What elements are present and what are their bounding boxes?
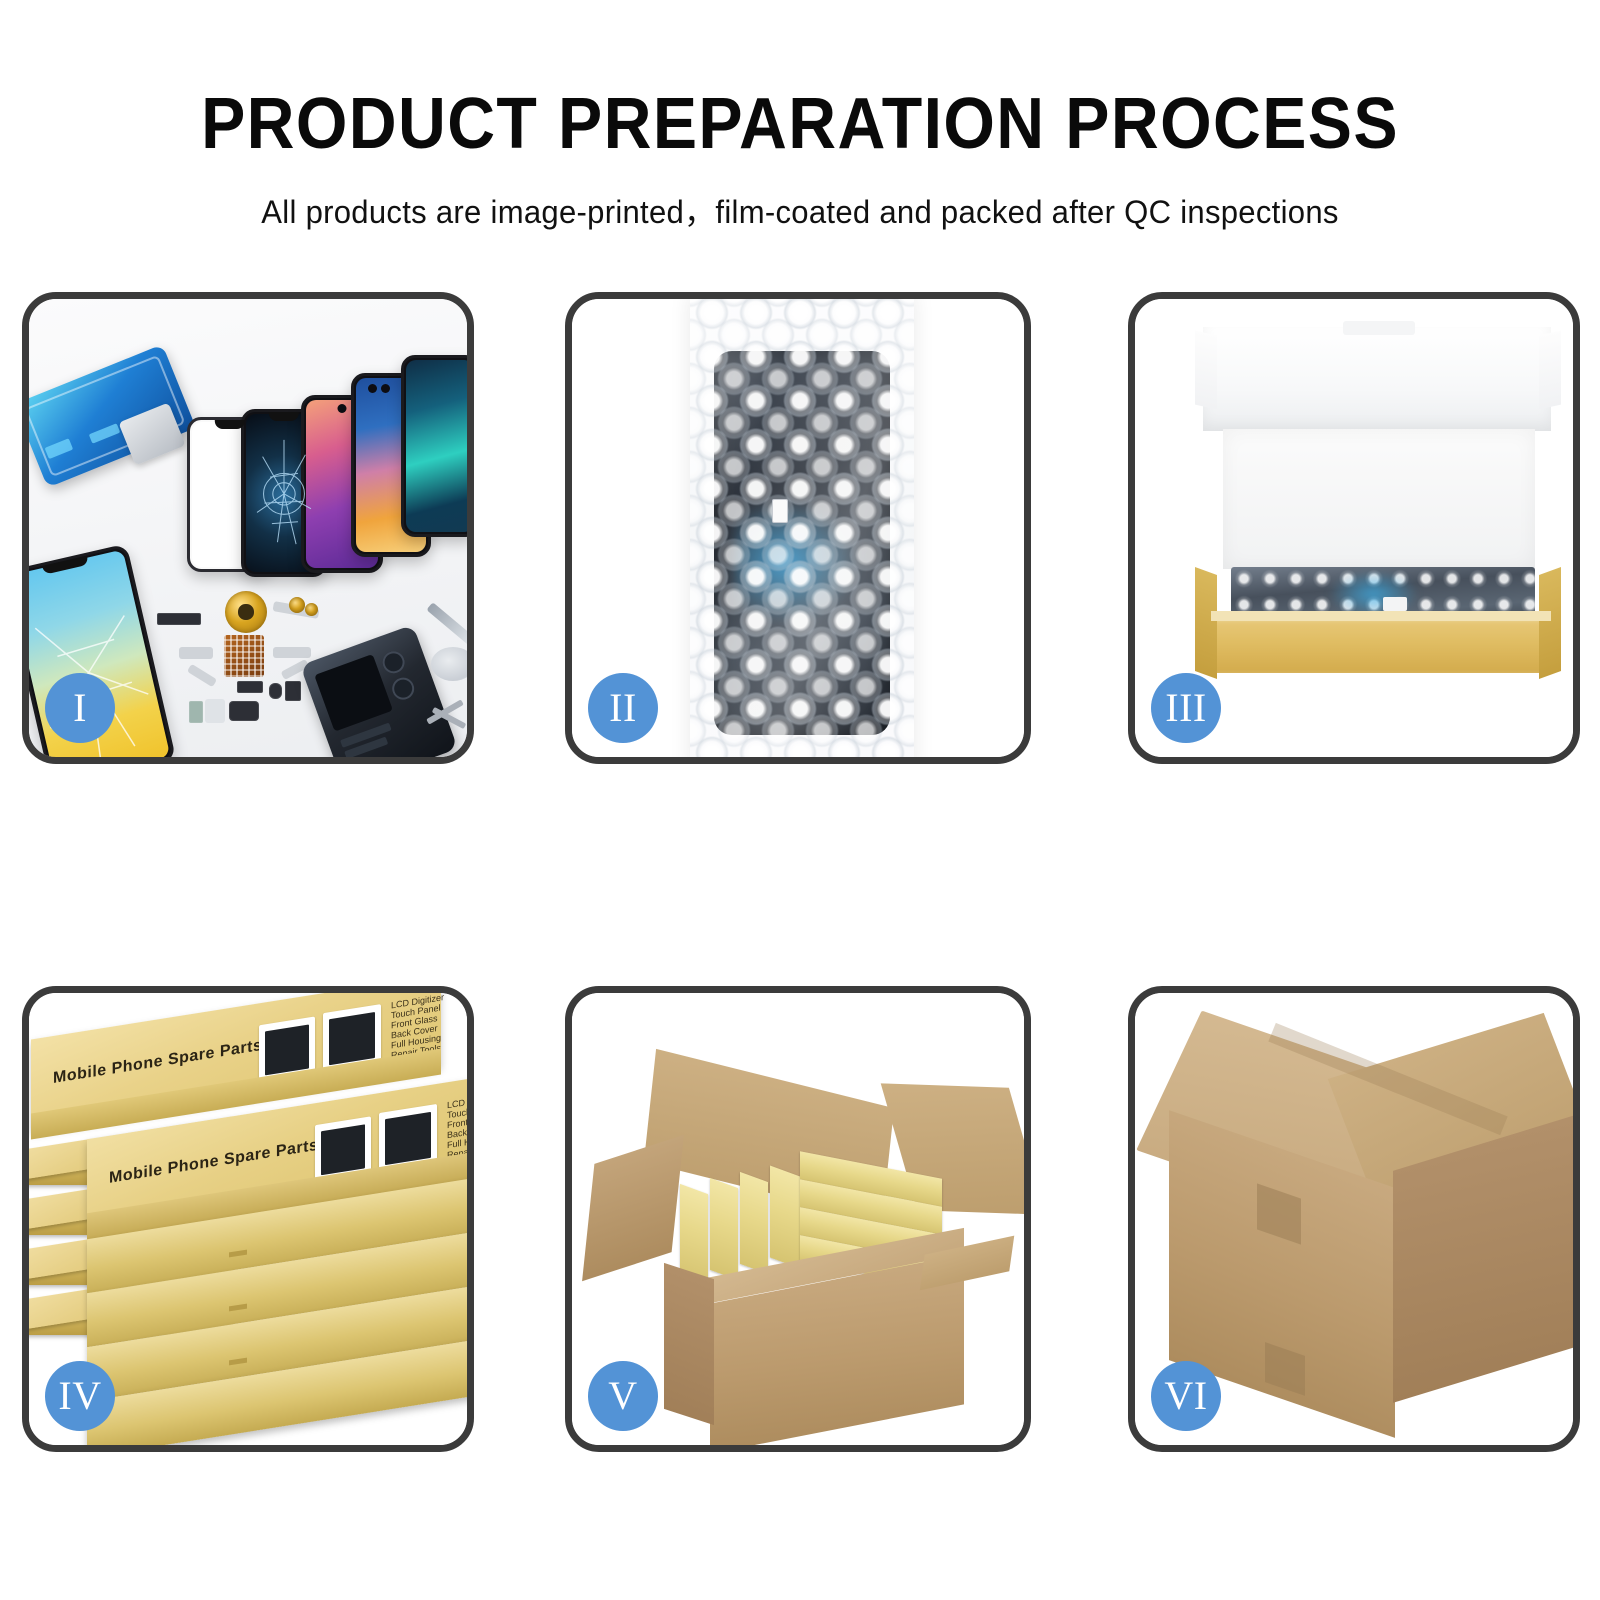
- product-label-sticker: [772, 499, 788, 523]
- sim-tray-component: [189, 701, 203, 723]
- phone-teal-wave-display: [401, 355, 467, 537]
- screen-crack-icon: [244, 412, 324, 568]
- step-panel-carton-sealed: VI: [1128, 986, 1580, 1452]
- mailer-base-side-right: [1539, 567, 1561, 679]
- flex-cable-component: [179, 647, 213, 659]
- mailer-box-base: [1211, 617, 1551, 673]
- step-panel-inner-box-packing: III: [1128, 292, 1580, 764]
- step-badge-2: II: [588, 673, 658, 743]
- mailer-lid-tab: [1343, 321, 1415, 335]
- mailer-base-side-left: [1195, 567, 1217, 679]
- film-gloss-highlight: [690, 299, 914, 757]
- step-panel-retail-box-stacking: Mobile Phone Spare Parts LCD Digitizer T…: [22, 986, 474, 1452]
- step-badge-4: IV: [45, 1361, 115, 1431]
- carton-side-face: [664, 1263, 714, 1425]
- product-preparation-infographic: PRODUCT PREPARATION PROCESS All products…: [0, 0, 1600, 1600]
- gold-box-in-carton: [710, 1178, 738, 1280]
- small-gold-contact: [305, 603, 318, 616]
- flex-cable-component: [273, 647, 311, 658]
- ic-chip-array: [224, 635, 264, 677]
- mailer-base-rim: [1211, 611, 1551, 621]
- camera-module-component: [285, 681, 301, 701]
- phone-cracked-screen: [241, 409, 327, 577]
- flex-cable-component: [205, 699, 225, 723]
- step-badge-6: VI: [1151, 1361, 1221, 1431]
- ic-chip-component: [237, 681, 263, 693]
- gold-box-in-carton: [740, 1172, 768, 1274]
- mailer-lid-flap-right: [1539, 331, 1561, 410]
- step-badge-3: III: [1151, 673, 1221, 743]
- repair-tool-brush: [431, 647, 467, 681]
- gold-box-in-carton: [770, 1166, 800, 1269]
- step-badge-5: V: [588, 1361, 658, 1431]
- mailer-box-lid: [1203, 327, 1551, 431]
- step-panel-carton-loading: V: [565, 986, 1031, 1452]
- step-panel-bubble-wrapping: II: [565, 292, 1031, 764]
- mailer-lid-flap-left: [1195, 331, 1217, 410]
- small-gold-contact: [289, 597, 305, 613]
- vibration-motor-component: [269, 683, 282, 699]
- step-badge-1: I: [45, 673, 115, 743]
- process-step-grid: I II: [0, 0, 1600, 1600]
- earpiece-speaker-component: [157, 613, 201, 625]
- retail-box-checklist: LCD Digitizer Touch Panel Front Glass Ba…: [447, 1092, 467, 1160]
- foam-insert: [1223, 429, 1535, 569]
- step-panel-raw-parts: I: [22, 292, 474, 764]
- wireless-charging-coil: [225, 591, 267, 633]
- speaker-module-component: [229, 701, 259, 721]
